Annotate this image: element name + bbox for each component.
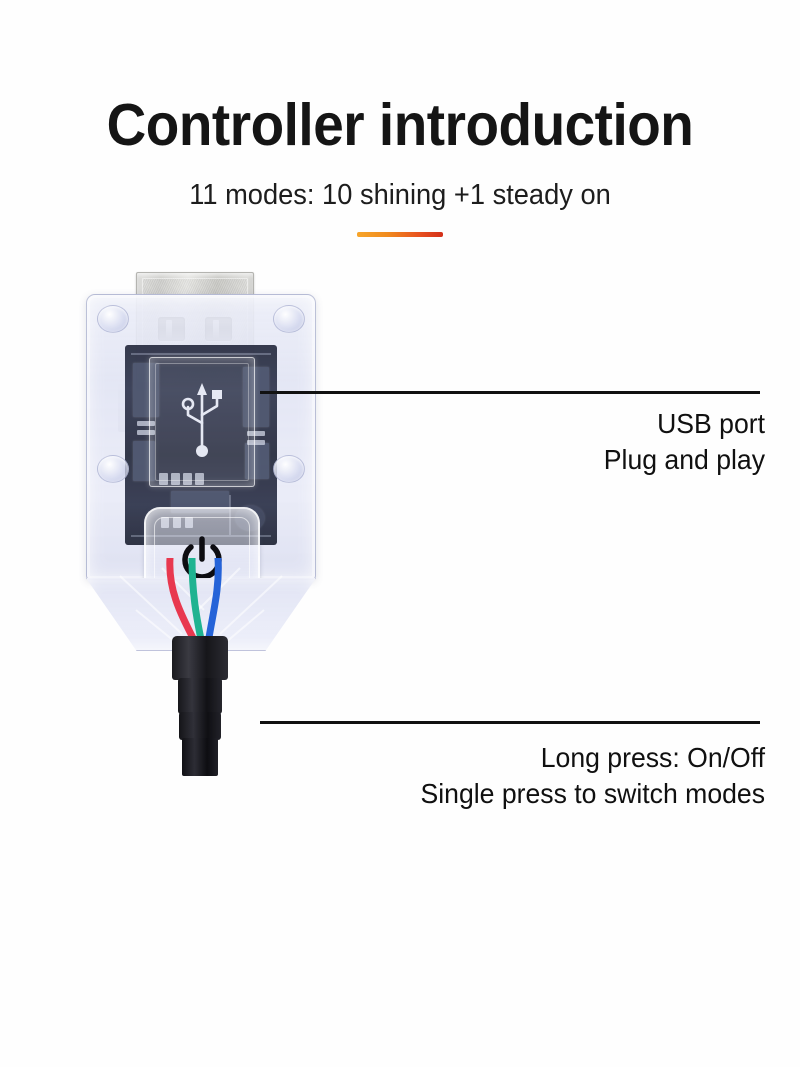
product-photo: [60, 258, 340, 1067]
page-subtitle: 11 modes: 10 shining +1 steady on: [24, 181, 776, 210]
callout-usb-port-line1: USB port: [385, 406, 765, 442]
strain-relief-boot: [178, 678, 222, 714]
leader-line-usb-port: [260, 391, 760, 394]
header: Controller introduction 11 modes: 10 shi…: [0, 0, 800, 237]
strain-relief-boot: [172, 636, 228, 680]
callout-power-button: Long press: On/Off Single press to switc…: [325, 740, 765, 812]
accent-divider: [357, 232, 443, 237]
page-title: Controller introduction: [28, 96, 772, 155]
callout-power-button-line1: Long press: On/Off: [347, 740, 765, 776]
infographic-page: Controller introduction 11 modes: 10 shi…: [0, 0, 800, 1067]
strain-relief-boot: [179, 712, 221, 740]
screw-boss: [273, 455, 305, 483]
power-cable: [182, 738, 218, 776]
leader-line-power-button: [260, 721, 760, 724]
controller-housing: [86, 294, 316, 580]
callout-usb-port-line2: Plug and play: [385, 442, 765, 478]
usb-trident-icon: [171, 379, 233, 465]
screw-boss: [97, 305, 129, 333]
callout-usb-port: USB port Plug and play: [365, 406, 765, 478]
callout-power-button-line2: Single press to switch modes: [347, 776, 765, 812]
screw-boss: [273, 305, 305, 333]
usb-logo-panel: [149, 357, 255, 487]
screw-boss: [97, 455, 129, 483]
